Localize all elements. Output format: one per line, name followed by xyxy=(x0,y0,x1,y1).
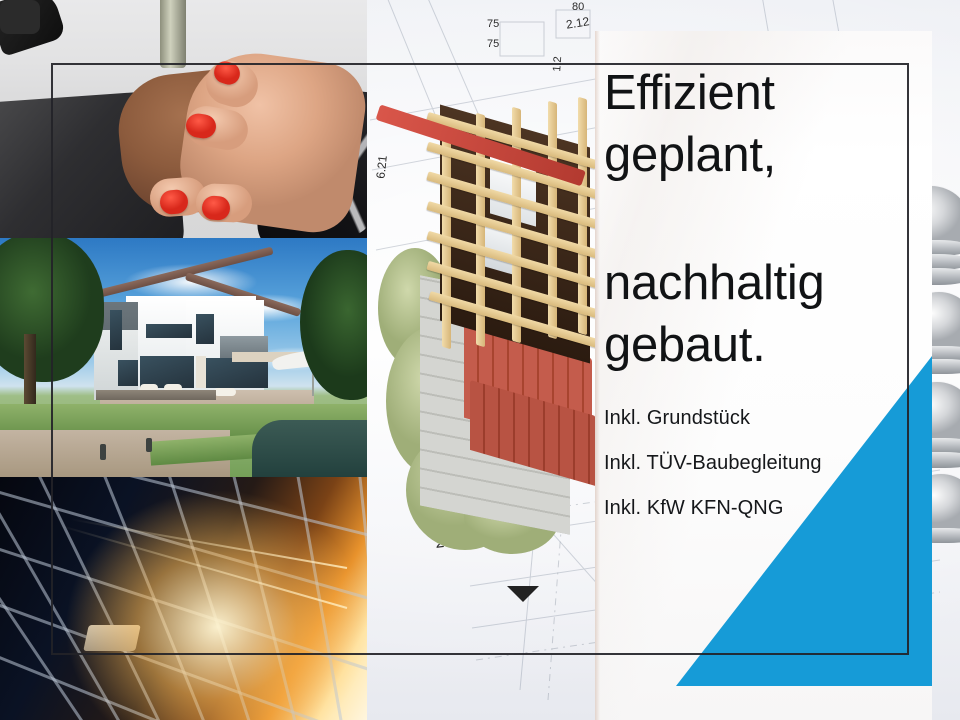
blueprint-annotation-75a: 75 xyxy=(487,18,499,30)
house-key-icon xyxy=(160,0,186,68)
banner-canvas: 2.20 2.12 6.21 80 75 75 1.2 8 xyxy=(0,0,960,720)
feature-list: Inkl. Grundstück Inkl. TÜV-Baubegleitung… xyxy=(604,408,904,543)
solar-panel-photo xyxy=(0,477,367,720)
blueprint-annotation-80: 80 xyxy=(572,1,584,13)
handshake-photo xyxy=(0,0,367,238)
list-item: Inkl. TÜV-Baubegleitung xyxy=(604,453,904,473)
headline-secondary: nachhaltig gebaut. xyxy=(604,252,914,376)
house-model-photo xyxy=(372,40,602,600)
list-item: Inkl. Grundstück xyxy=(604,408,904,428)
modern-house-photo xyxy=(0,238,367,477)
headline-primary: Effizient geplant, xyxy=(604,62,904,186)
card-left-edge xyxy=(595,31,600,720)
photo-collage-column xyxy=(0,0,367,720)
list-item: Inkl. KfW KFN-QNG xyxy=(604,498,904,518)
